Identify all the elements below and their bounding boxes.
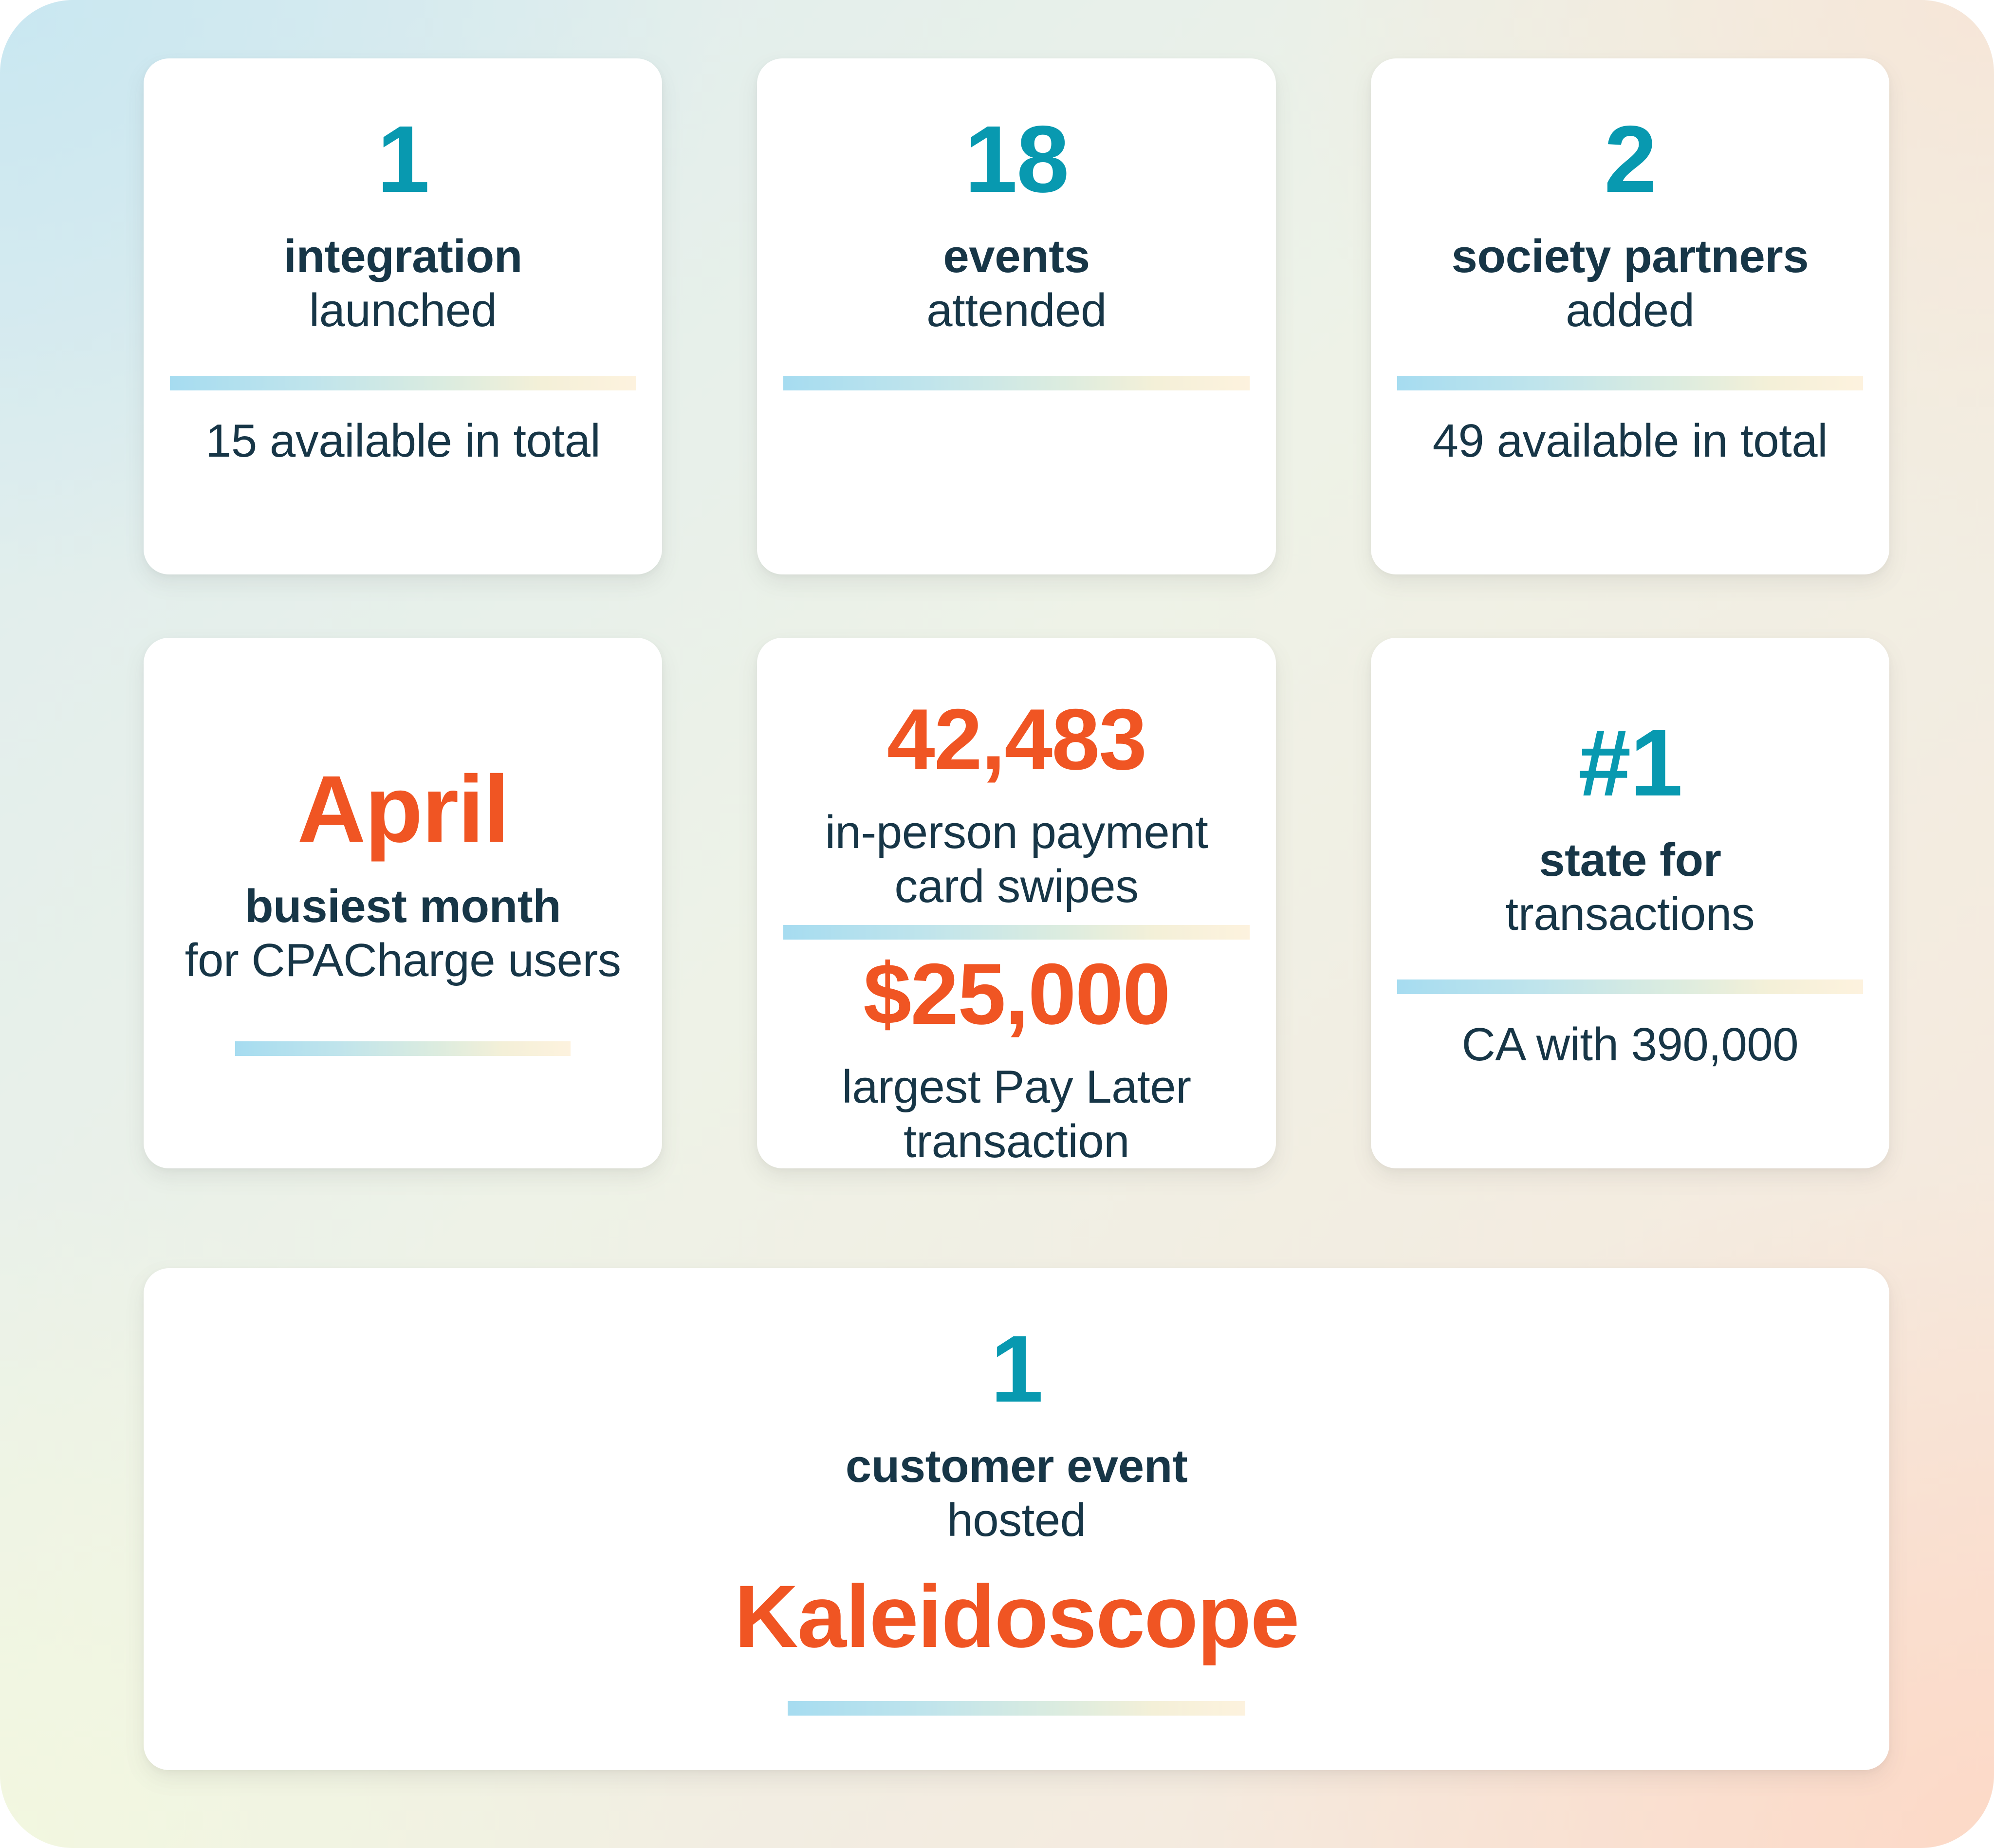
stat-card-payments: 42,483 in-person payment card swipes $25…: [757, 638, 1275, 1168]
top-state-footnote: CA with 390,000: [1462, 1016, 1799, 1072]
card-swipes-value: 42,483: [887, 696, 1146, 783]
stats-row-bottom: 1 customer event hosted Kaleidoscope: [144, 1268, 1889, 1770]
card-swipes-label-line-1: in-person payment: [825, 805, 1208, 859]
customer-event-label-regular: hosted: [947, 1493, 1086, 1547]
stat-card-top-state: #1 state for transactions CA with 390,00…: [1371, 638, 1889, 1168]
stats-row-top: 1 integration launched 15 available in t…: [144, 58, 1889, 574]
integrations-label-bold: integration: [283, 229, 522, 283]
pay-later-label-line-1: largest Pay Later: [842, 1060, 1191, 1114]
events-divider-bar: [783, 376, 1249, 390]
payments-divider-bar: [783, 925, 1249, 940]
card-swipes-label-line-2: card swipes: [894, 859, 1138, 913]
integrations-divider-bar: [170, 376, 636, 390]
society-partners-divider-bar: [1397, 376, 1863, 390]
pay-later-block: $25,000 largest Pay Later transaction: [783, 951, 1249, 1168]
stat-card-customer-event: 1 customer event hosted Kaleidoscope: [144, 1268, 1889, 1770]
busiest-month-value: April: [297, 762, 509, 857]
stat-card-events: 18 events attended: [757, 58, 1275, 574]
events-label-regular: attended: [926, 283, 1107, 337]
integrations-label-regular: launched: [309, 283, 497, 337]
stat-card-busiest-month: April busiest month for CPACharge users: [144, 638, 662, 1168]
busiest-month-label-bold: busiest month: [245, 879, 561, 933]
customer-event-divider-bar: [788, 1701, 1245, 1716]
society-partners-label-regular: added: [1566, 283, 1694, 337]
society-partners-label-bold: society partners: [1451, 229, 1809, 283]
integrations-footnote: 15 available in total: [205, 413, 600, 469]
events-label-bold: events: [943, 229, 1089, 283]
customer-event-brand: Kaleidoscope: [734, 1570, 1298, 1663]
top-state-value: #1: [1578, 716, 1682, 811]
stats-row-middle: April busiest month for CPACharge users …: [144, 638, 1889, 1168]
integrations-value: 1: [377, 112, 428, 207]
busiest-month-divider-bar: [235, 1041, 571, 1056]
top-state-divider-bar: [1397, 979, 1863, 994]
stat-card-society-partners: 2 society partners added 49 available in…: [1371, 58, 1889, 574]
society-partners-footnote: 49 available in total: [1433, 413, 1828, 469]
top-state-label-bold: state for: [1539, 833, 1721, 887]
society-partners-value: 2: [1604, 112, 1656, 207]
card-swipes-block: 42,483 in-person payment card swipes: [783, 696, 1249, 914]
infographic-canvas: 1 integration launched 15 available in t…: [0, 0, 1994, 1848]
events-value: 18: [965, 112, 1069, 207]
customer-event-label-bold: customer event: [846, 1439, 1188, 1493]
top-state-label-regular: transactions: [1506, 887, 1755, 941]
pay-later-label-line-2: transaction: [904, 1114, 1129, 1168]
stat-card-integrations: 1 integration launched 15 available in t…: [144, 58, 662, 574]
pay-later-value: $25,000: [863, 951, 1169, 1037]
customer-event-value: 1: [991, 1322, 1042, 1417]
busiest-month-label-regular: for CPACharge users: [185, 933, 621, 987]
cards-grid: 1 integration launched 15 available in t…: [0, 0, 1994, 1848]
